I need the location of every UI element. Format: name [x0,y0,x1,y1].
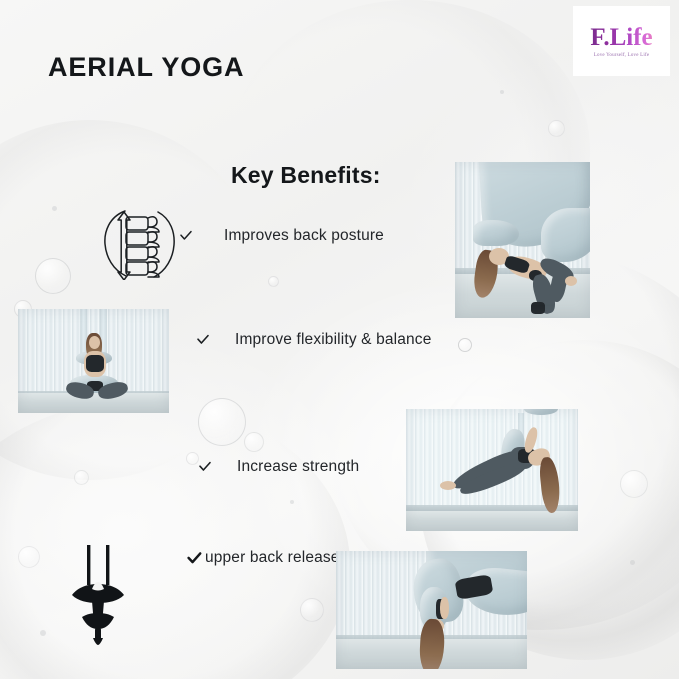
photo-upside-down-wrap [336,551,527,669]
aerial-yoga-poster: AERIAL YOGA F.Life Love Yourself, Love L… [0,0,679,679]
check-icon [178,228,194,244]
photo-inverted-split [406,409,578,531]
benefit-label-2: Improve flexibility & balance [235,331,431,349]
benefit-row-1: Improves back posture [178,227,384,245]
check-icon [186,550,203,567]
page-title: AERIAL YOGA [48,52,244,83]
photo-hammock-backbend [455,162,590,318]
benefit-label-4: upper back release [205,549,340,567]
benefit-row-2: Improve flexibility & balance [195,331,431,349]
check-icon [197,459,213,475]
benefit-row-3: Increase strength [197,458,359,476]
check-icon [195,332,211,348]
brand-logo-card: F.Life Love Yourself, Love Life [573,6,670,76]
benefits-heading: Key Benefits: [231,162,381,189]
aerial-hang-silhouette-icon [62,543,134,647]
benefit-label-3: Increase strength [237,458,359,476]
benefit-label-1: Improves back posture [224,227,384,245]
photo-seated-prayer [18,309,169,413]
spine-icon [101,206,179,280]
brand-tagline: Love Yourself, Love Life [594,53,649,58]
benefit-row-4: upper back release [186,549,340,567]
brand-wordmark: F.Life [590,25,652,50]
